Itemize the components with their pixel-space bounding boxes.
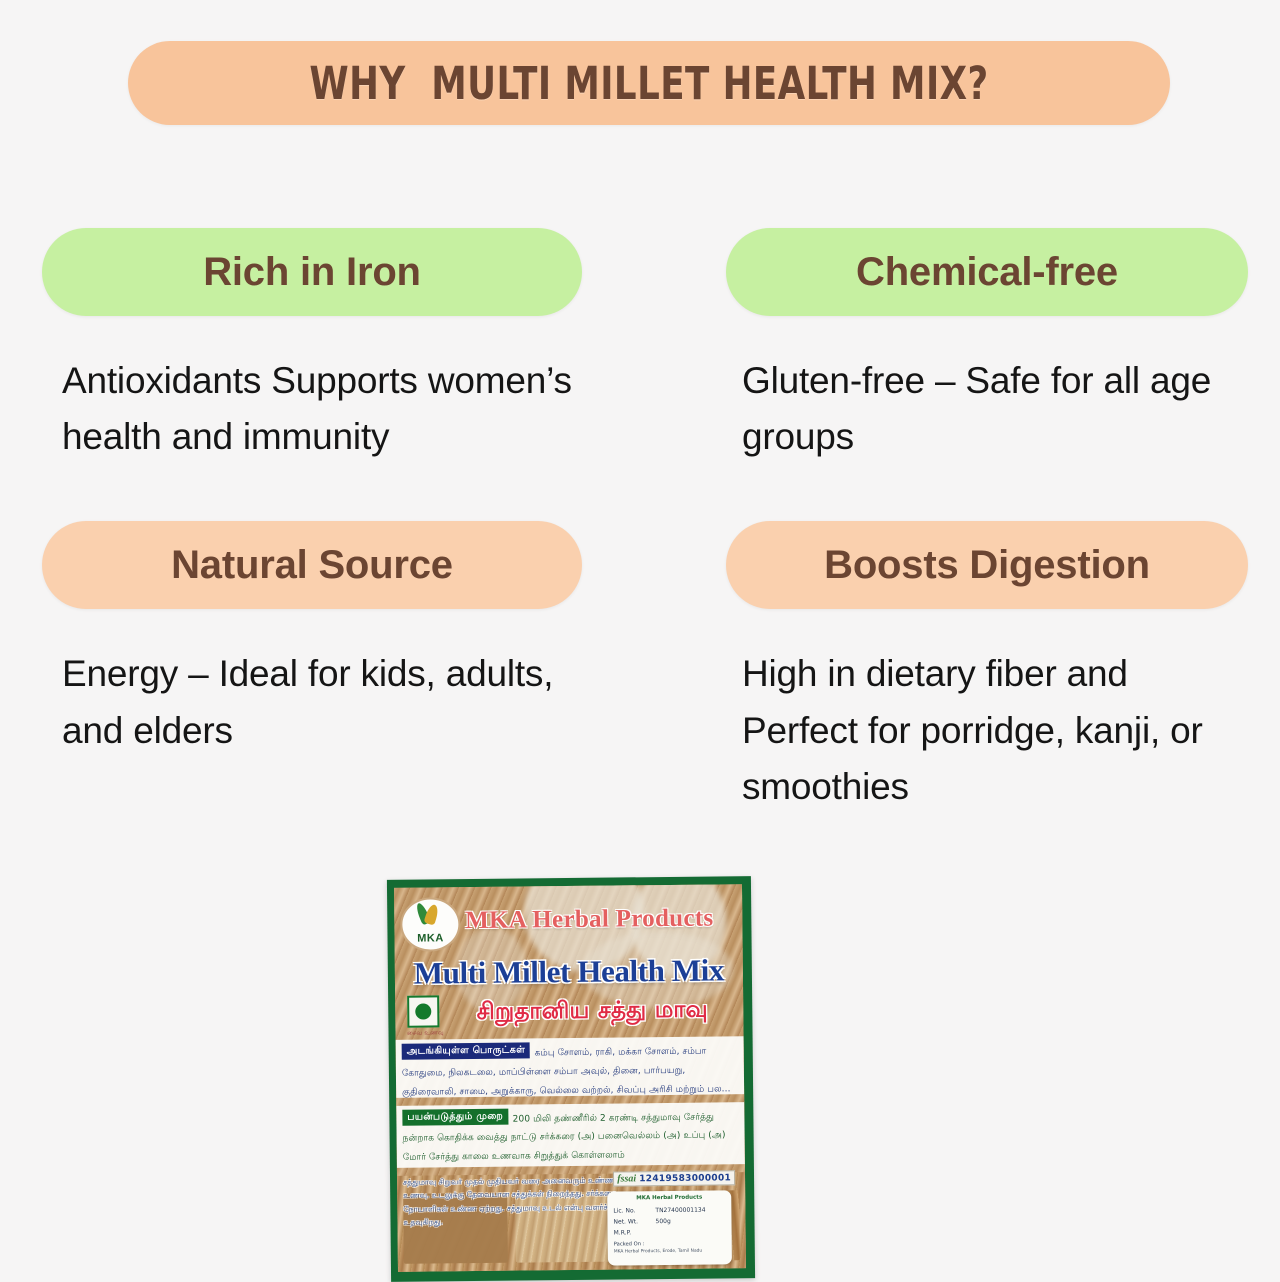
product-packet-photo: MKA MKA Herbal Products Multi Millet Hea… xyxy=(389,878,753,1280)
ingredients-label: அடங்கியுள்ள பொருட்கள் xyxy=(402,1042,531,1059)
info-row-key: M.R.P. xyxy=(614,1227,656,1239)
info-card-brand: MKA Herbal Products xyxy=(613,1194,725,1201)
feature-description: Energy – Ideal for kids, adults, and eld… xyxy=(62,646,582,758)
feature-label: Boosts Digestion xyxy=(824,543,1150,588)
feature-pill-rich-in-iron: Rich in Iron xyxy=(42,228,582,316)
feature-label: Natural Source xyxy=(171,543,453,588)
page-title-banner: WHY MULTI MILLET HEALTH MIX? xyxy=(128,41,1170,125)
features-row-2: Natural Source Energy – Ideal for kids, … xyxy=(0,521,1280,815)
features-row-spacer xyxy=(0,465,1280,521)
feature-description: Gluten-free – Safe for all age groups xyxy=(742,353,1248,465)
fssai-badge: fssai 12419583000001 xyxy=(613,1170,735,1186)
features-grid: Rich in Iron Antioxidants Supports women… xyxy=(0,228,1280,815)
page-title: WHY MULTI MILLET HEALTH MIX? xyxy=(309,57,988,110)
feature-card-natural-source: Natural Source Energy – Ideal for kids, … xyxy=(0,521,640,815)
packet-front-face: MKA MKA Herbal Products Multi Millet Hea… xyxy=(394,884,746,1272)
packet-benefits-text: சத்துமாவு சிறுவர் முதல் முதியவர் வரை அனை… xyxy=(403,1173,640,1229)
feature-pill-chemical-free: Chemical-free xyxy=(726,228,1248,316)
info-row-value: TN27400001134 xyxy=(655,1204,725,1216)
info-row-key: Lic. No. xyxy=(613,1205,655,1217)
fssai-logo-icon: fssai xyxy=(617,1173,636,1184)
info-row-value xyxy=(656,1227,726,1239)
fssai-license-number: 12419583000001 xyxy=(639,1173,731,1184)
feature-card-chemical-free: Chemical-free Gluten-free – Safe for all… xyxy=(640,228,1280,465)
info-row-value: 500g xyxy=(655,1215,725,1227)
info-row-key: Net. Wt. xyxy=(613,1216,655,1228)
feature-pill-natural-source: Natural Source xyxy=(42,521,582,609)
veg-mark-caption: சைவ உணவு xyxy=(399,1029,451,1038)
info-card-row: M.R.P. xyxy=(614,1227,726,1239)
feature-description: High in dietary fiber and Perfect for po… xyxy=(742,646,1248,815)
feature-card-boosts-digestion: Boosts Digestion High in dietary fiber a… xyxy=(640,521,1280,815)
packet-product-name: Multi Millet Health Mix xyxy=(395,952,743,992)
features-row-1: Rich in Iron Antioxidants Supports women… xyxy=(0,228,1280,465)
info-card-address: MKA Herbal Products, Erode, Tamil Nadu xyxy=(614,1249,726,1255)
mka-logo-icon: MKA xyxy=(400,897,461,952)
feature-description: Antioxidants Supports women’s health and… xyxy=(62,353,582,465)
packet-product-name-tamil: சிறுதானிய சத்து மாவு xyxy=(395,996,743,1029)
packet-ingredients-panel: அடங்கியுள்ள பொருட்கள் கம்பு சோளம், ராகி,… xyxy=(396,1036,745,1098)
packet-info-card: MKA Herbal Products Lic. No. TN274000011… xyxy=(607,1190,732,1265)
usage-label: பயன்படுத்தும் முறை xyxy=(402,1109,508,1126)
feature-label: Chemical-free xyxy=(856,250,1118,295)
feature-label: Rich in Iron xyxy=(203,250,421,295)
packet-brand-row: MKA MKA Herbal Products xyxy=(394,898,742,942)
leaf-icon xyxy=(424,903,440,925)
packet-usage-panel: பயன்படுத்தும் முறை 200 மிலி தண்ணீரில் 2 … xyxy=(396,1102,745,1168)
feature-pill-boosts-digestion: Boosts Digestion xyxy=(726,521,1248,609)
packet-border: MKA MKA Herbal Products Multi Millet Hea… xyxy=(387,876,755,1282)
feature-card-rich-in-iron: Rich in Iron Antioxidants Supports women… xyxy=(0,228,640,465)
logo-text: MKA xyxy=(402,932,458,945)
